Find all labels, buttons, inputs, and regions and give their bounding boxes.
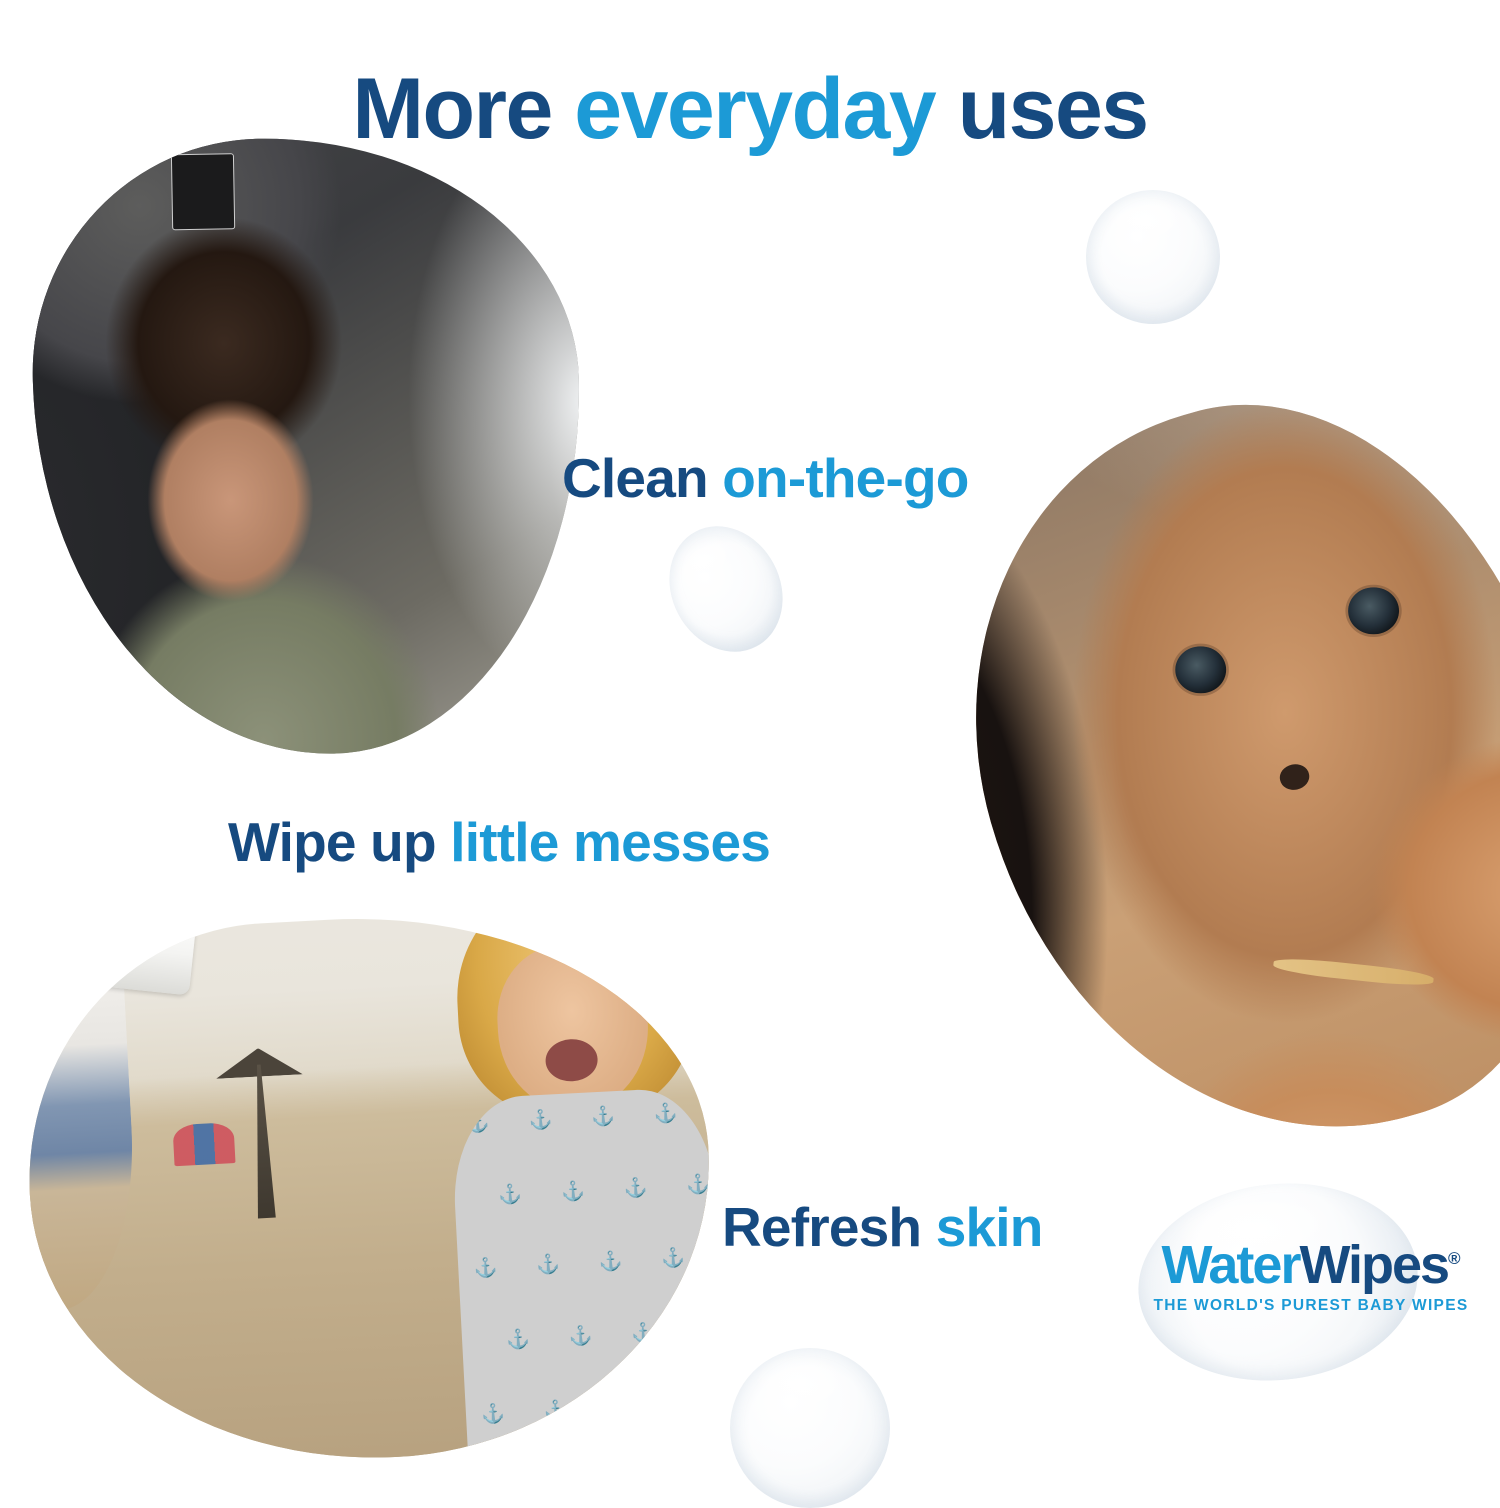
caption-refresh-navy: Refresh (722, 1196, 936, 1258)
caption-wipe-cyan: little messes (450, 811, 770, 873)
caption-clean-cyan: on-the-go (722, 447, 968, 509)
anchor-icon: ⚓ (661, 1250, 677, 1270)
anchor-icon: ⚓ (543, 1402, 559, 1422)
anchor-icon: ⚓ (561, 1182, 577, 1202)
anchor-icon: ⚓ (473, 1259, 489, 1279)
photo-eating-baby-image (898, 339, 1500, 1204)
anchor-icon: ⚓ (606, 1398, 622, 1418)
anchor-icon: ⚓ (466, 1114, 482, 1134)
logo-water-text: Water (1161, 1235, 1299, 1295)
page-title-part-3: uses (935, 61, 1147, 157)
anchor-icon: ⚓ (623, 1179, 639, 1199)
anchor-icon: ⚓ (598, 1253, 614, 1273)
baby-eye-right (1348, 587, 1399, 634)
anchor-icon: ⚓ (669, 1395, 685, 1415)
graco-brand-label: GRACO (29, 149, 94, 207)
baby-nose (1277, 762, 1311, 793)
pasta-strand (1273, 956, 1435, 989)
bubble-icon (730, 1348, 890, 1508)
anchor-icon: ⚓ (568, 1327, 584, 1347)
page-title-part-2: everyday (574, 61, 935, 157)
anchor-icon: ⚓ (693, 1321, 709, 1341)
beach-toddler: ⚓⚓⚓⚓⚓⚓⚓⚓⚓⚓⚓⚓⚓⚓⚓⚓⚓⚓⚓⚓ (405, 901, 723, 1476)
bubble-icon (1086, 190, 1220, 324)
photo-car-seat: 10 POSITIONS GRACO (29, 133, 586, 758)
waterwipes-pack-label: WaterWipes (40, 928, 134, 955)
caption-clean-navy: Clean (562, 447, 722, 509)
anchor-icon: ⚓ (591, 1107, 607, 1127)
photo-beach: SQUEEZE THE WaterWipes ⚓⚓⚓⚓⚓⚓⚓⚓⚓⚓⚓⚓⚓⚓⚓⚓⚓… (16, 901, 723, 1476)
pack-label-wipes: Wipes (84, 932, 134, 956)
baby-eye-left (1176, 646, 1227, 693)
toddler-anchor-dress: ⚓⚓⚓⚓⚓⚓⚓⚓⚓⚓⚓⚓⚓⚓⚓⚓⚓⚓⚓⚓ (449, 1086, 724, 1475)
anchor-icon: ⚓ (536, 1256, 552, 1276)
bubble-icon (648, 506, 804, 671)
anchor-icon: ⚓ (498, 1185, 514, 1205)
car-seat-safety-icon (171, 153, 236, 230)
photo-eating-baby (898, 339, 1500, 1204)
photo-beach-image: SQUEEZE THE WaterWipes ⚓⚓⚓⚓⚓⚓⚓⚓⚓⚓⚓⚓⚓⚓⚓⚓⚓… (16, 901, 723, 1476)
caption-refresh-cyan: skin (936, 1196, 1043, 1258)
logo-tagline: THE WORLD'S PUREST BABY WIPES (1142, 1298, 1480, 1314)
logo-wipes-text: Wipes (1299, 1235, 1448, 1295)
anchor-icon: ⚓ (686, 1175, 702, 1195)
caption-wipe-up-little-messes: Wipe up little messes (228, 815, 770, 870)
anchor-icon: ⚓ (481, 1405, 497, 1425)
caption-clean-on-the-go: Clean on-the-go (562, 451, 969, 506)
beach-windbreak (173, 1122, 236, 1166)
registered-trademark-icon: ® (1448, 1249, 1461, 1268)
caption-wipe-navy: Wipe up (228, 811, 450, 873)
anchor-icon: ⚓ (528, 1111, 544, 1131)
anchor-icon: ⚓ (506, 1331, 522, 1351)
anchor-icon: ⚓ (653, 1104, 669, 1124)
anchor-icon: ⚓ (631, 1324, 647, 1344)
waterwipes-logo: WaterWipes® THE WORLD'S PUREST BABY WIPE… (1142, 1238, 1480, 1314)
pack-label-water: Water (39, 927, 85, 951)
photo-car-seat-image: 10 POSITIONS GRACO (29, 133, 586, 758)
waterwipes-wordmark: WaterWipes® (1142, 1238, 1480, 1292)
caption-refresh-skin: Refresh skin (722, 1200, 1043, 1255)
